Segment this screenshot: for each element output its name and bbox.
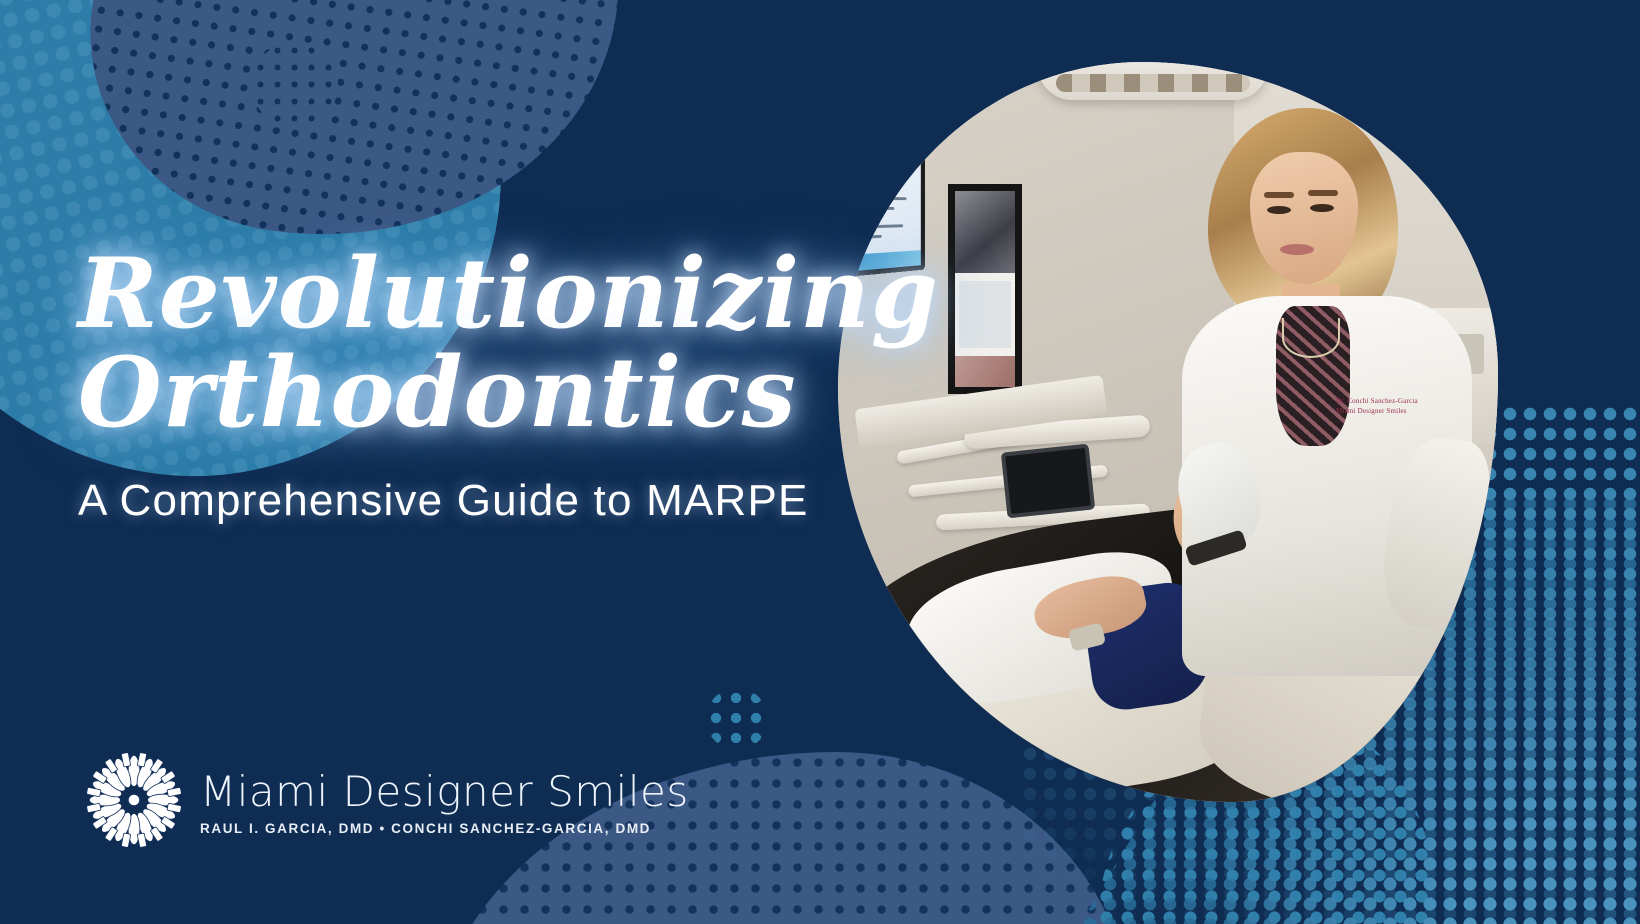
flower-mandala-logo-icon xyxy=(82,748,186,852)
headline-line-2: Orthodontics xyxy=(78,345,838,440)
lab-coat-embroidery: Dr. Conchi Sanchez-Garcia Miami Designer… xyxy=(1336,396,1430,422)
dotted-circle-tiny-center xyxy=(706,688,768,750)
clinic-photo-illustration: Dr. Conchi Sanchez-Garcia Miami Designer… xyxy=(838,62,1498,802)
headline-block: Revolutionizing Orthodontics A Comprehen… xyxy=(78,246,838,526)
logo-doctor-names: RAUL I. GARCIA, DMD • CONCHI SANCHEZ-GAR… xyxy=(200,821,689,836)
coat-badge-line-1: Dr. Conchi Sanchez-Garcia xyxy=(1336,396,1430,406)
clinic-photo: Dr. Conchi Sanchez-Garcia Miami Designer… xyxy=(838,62,1498,802)
logo-text-lockup: Miami Designer Smiles RAUL I. GARCIA, DM… xyxy=(200,765,689,836)
marpe-guide-banner: Dr. Conchi Sanchez-Garcia Miami Designer… xyxy=(0,0,1640,924)
halftone-blob-top-left-muted xyxy=(65,0,645,274)
coat-badge-line-2: Miami Designer Smiles xyxy=(1336,406,1430,416)
dotted-circle-small-top xyxy=(252,42,338,128)
brand-logo[interactable]: Miami Designer Smiles RAUL I. GARCIA, DM… xyxy=(82,748,689,852)
logo-practice-name: Miami Designer Smiles xyxy=(200,771,689,813)
headline-subtitle: A Comprehensive Guide to MARPE xyxy=(78,476,838,526)
headline-line-1: Revolutionizing xyxy=(78,246,838,341)
orthodontist-figure: Dr. Conchi Sanchez-Garcia Miami Designer… xyxy=(1158,108,1488,668)
doctor-necklace xyxy=(1282,318,1340,358)
wall-poster-frame xyxy=(948,184,1022,394)
dental-ceiling-light-icon xyxy=(1038,62,1268,100)
doctor-lips xyxy=(1280,244,1314,255)
